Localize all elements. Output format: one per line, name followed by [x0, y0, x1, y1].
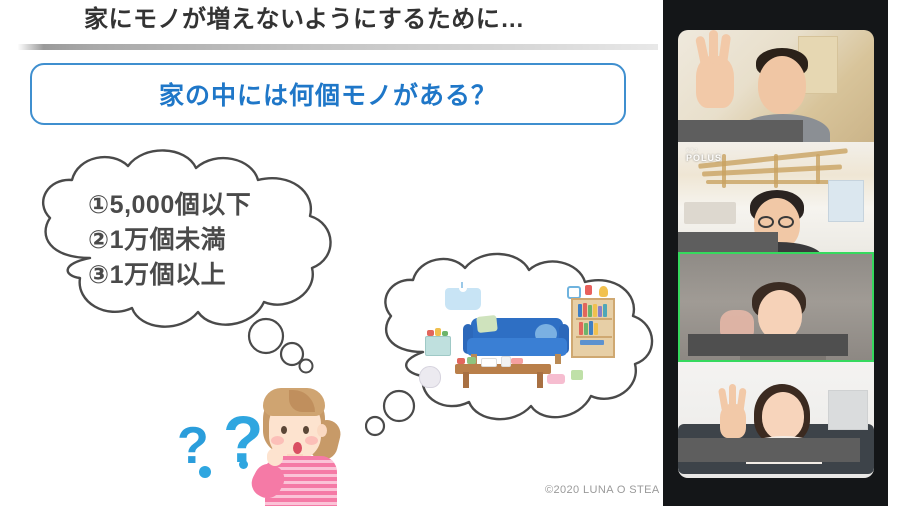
tile-4-head	[762, 392, 804, 440]
tile-1-finger-2	[709, 30, 718, 64]
laundry-bag	[419, 366, 441, 388]
plant-icon	[599, 286, 608, 297]
video-tile-2[interactable]: ポラス POLUS	[678, 142, 874, 252]
question-dot-1	[239, 460, 248, 469]
tile-2-window	[828, 180, 864, 222]
eye-right	[303, 426, 309, 434]
tile-1-head	[758, 56, 806, 114]
video-call-panel: ポラス POLUS	[663, 0, 888, 506]
blush-right	[305, 436, 318, 445]
presentation-slide: 家にモノが増えないようにするために… 家の中には何個モノがある？ ①5,000個…	[0, 0, 663, 506]
answer-option-2: ②1万個未満	[88, 223, 388, 258]
video-tile-3[interactable]	[678, 252, 874, 362]
tile-2-name-label	[678, 232, 778, 252]
green-clutter	[571, 370, 583, 380]
sofa-leg-right	[555, 354, 561, 364]
question-box-text: 家の中には何個モノがある？	[32, 65, 624, 123]
video-tile-4[interactable]	[678, 362, 874, 478]
ear	[317, 424, 327, 437]
tile-4-finger-2	[729, 384, 736, 412]
question-dot-2	[199, 466, 211, 478]
question-box: 家の中には何個モノがある？	[30, 63, 626, 125]
polus-watermark: ポラス POLUS	[686, 148, 722, 163]
cluttered-room-illustration	[419, 280, 609, 395]
question-mark-small: ?	[177, 420, 209, 472]
table-leg-left	[463, 372, 469, 388]
tile-2-beam-post-1	[722, 154, 726, 188]
tile-2-rail	[684, 202, 736, 224]
hand	[267, 448, 283, 466]
table-item-papers	[481, 358, 497, 367]
tile-2-beam-post-3	[816, 154, 820, 184]
copyright-notice: ©2020 LUNA O STEA	[545, 484, 663, 500]
title-divider	[18, 44, 658, 50]
answers-thought-bubble: ①5,000個以下 ②1万個未満 ③1万個以上	[20, 140, 400, 380]
cushion-green	[476, 315, 498, 333]
table-item-book	[511, 358, 523, 364]
video-tile-1[interactable]	[678, 30, 874, 142]
tile-3-head	[758, 290, 802, 340]
tile-2-glasses-left	[758, 216, 774, 228]
pink-clutter	[547, 374, 565, 384]
tile-2-beam-post-2	[774, 154, 778, 188]
tile-2-glasses-right	[778, 216, 794, 228]
mouth	[293, 442, 302, 454]
tile-3-name-label	[688, 334, 848, 356]
answer-list: ①5,000個以下 ②1万個未満 ③1万個以上	[88, 188, 388, 293]
tile-1-name-label	[678, 120, 803, 142]
bookshelf-icon	[571, 298, 615, 358]
thinking-person-illustration: ? ?	[205, 376, 365, 506]
table-item-cup	[501, 356, 511, 367]
table-leg-right	[537, 372, 543, 388]
jar-icon	[585, 285, 592, 295]
tile-4-name-label	[678, 438, 860, 462]
table-item-red	[457, 358, 465, 364]
toy-box	[425, 336, 451, 356]
sofa-seat	[467, 338, 567, 356]
tile-4-wall-panel	[828, 390, 868, 430]
right-margin	[888, 0, 900, 506]
polus-watermark-sub: ポラス	[686, 148, 722, 153]
answer-option-1: ①5,000個以下	[88, 188, 388, 223]
table-item-green	[467, 357, 476, 364]
room-thought-bubble	[365, 248, 663, 448]
screen-root: 家にモノが増えないようにするために… 家の中には何個モノがある？ ①5,000個…	[0, 0, 900, 506]
blush-left	[271, 436, 284, 445]
eye-left	[281, 426, 287, 434]
slide-title: 家にモノが増えないようにするために…	[84, 3, 644, 37]
answer-option-3: ③1万個以上	[88, 258, 388, 293]
polus-watermark-text: POLUS	[686, 153, 722, 163]
